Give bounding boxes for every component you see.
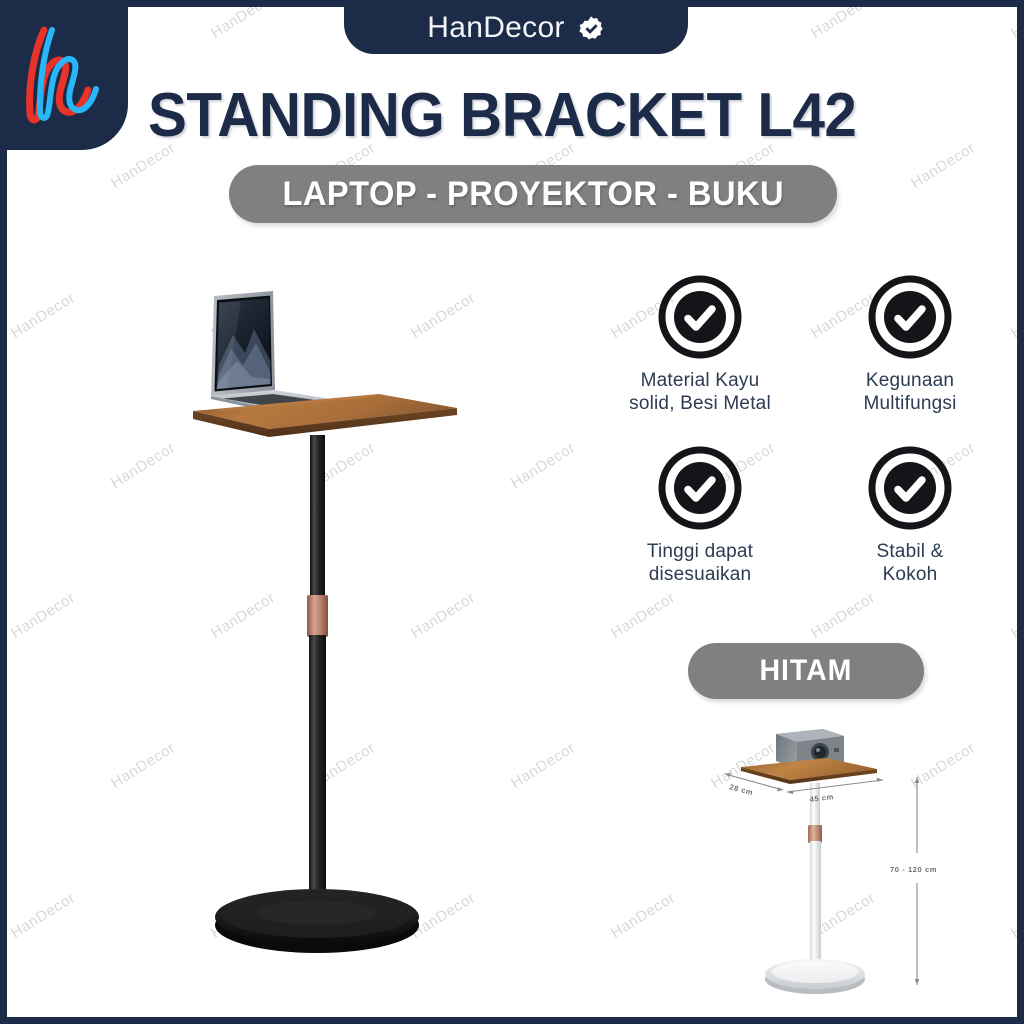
- feature-badge: Stabil & Kokoh: [809, 446, 1011, 595]
- feature-badge: Tinggi dapat disesuaikan: [599, 446, 801, 595]
- feature-label-line1: Kegunaan: [863, 369, 956, 392]
- depth-label: 28 cm: [728, 782, 754, 797]
- subtitle-pill: LAPTOP - PROYEKTOR - BUKU: [229, 165, 837, 223]
- handecor-script-h-logo-icon: [14, 22, 114, 127]
- brand-name: HanDecor: [427, 11, 564, 45]
- watermark-text: HanDecor: [808, 589, 878, 642]
- feature-label: Material Kayu solid, Besi Metal: [629, 369, 771, 415]
- check-circle-icon: [868, 275, 952, 359]
- dimension-diagram: 28 cm 45 cm 70 - 120 cm: [707, 707, 957, 1017]
- watermark-text: HanDecor: [1008, 589, 1017, 642]
- watermark-text: HanDecor: [908, 139, 978, 192]
- check-circle-icon: [868, 446, 952, 530]
- color-option-pill: HITAM: [688, 643, 924, 699]
- pole-lower: [309, 635, 326, 916]
- watermark-text: HanDecor: [1008, 889, 1017, 942]
- feature-label-line1: Material Kayu: [629, 369, 771, 392]
- watermark-text: HanDecor: [1008, 7, 1017, 42]
- feature-badge: Material Kayu solid, Besi Metal: [599, 275, 801, 424]
- feature-badge-grid: Material Kayu solid, Besi Metal Kegunaan…: [599, 275, 1011, 595]
- product-listing-image: HanDecorHanDecorHanDecorHanDecorHanDecor…: [0, 0, 1024, 1024]
- diagram-pole-lower: [810, 841, 821, 971]
- circular-base: [215, 889, 419, 953]
- page-title: STANDING BRACKET L42: [148, 85, 872, 147]
- feature-label: Tinggi dapat disesuaikan: [647, 540, 753, 586]
- watermark-text: HanDecor: [8, 289, 78, 342]
- feature-label-line1: Tinggi dapat: [647, 540, 753, 563]
- feature-label-line2: Multifungsi: [863, 392, 956, 415]
- watermark-text: HanDecor: [8, 889, 78, 942]
- diagram-base: [765, 959, 865, 994]
- feature-label-line2: Kokoh: [876, 563, 943, 586]
- pole-upper: [310, 435, 325, 598]
- diagram-tabletop: [741, 758, 877, 784]
- check-circle-icon: [658, 446, 742, 530]
- watermark-text: HanDecor: [608, 589, 678, 642]
- feature-label-line1: Stabil &: [876, 540, 943, 563]
- feature-badge: Kegunaan Multifungsi: [809, 275, 1011, 424]
- width-label: 45 cm: [809, 792, 834, 804]
- height-dimension: 70 - 120 cm: [890, 777, 937, 985]
- brand-logo-block: [0, 0, 128, 150]
- diagram-collar: [808, 825, 822, 843]
- check-circle-icon: [658, 275, 742, 359]
- diagram-pole-upper: [810, 783, 820, 827]
- height-adjust-collar[interactable]: [307, 595, 328, 637]
- feature-label-line2: disesuaikan: [647, 563, 753, 586]
- watermark-text: HanDecor: [8, 589, 78, 642]
- watermark-text: HanDecor: [808, 7, 878, 42]
- watermark-text: HanDecor: [208, 7, 278, 42]
- watermark-text: HanDecor: [608, 889, 678, 942]
- height-label: 70 - 120 cm: [890, 865, 937, 874]
- color-option-name: HITAM: [760, 654, 853, 688]
- brand-pill: HanDecor: [344, 0, 688, 54]
- feature-label: Stabil & Kokoh: [876, 540, 943, 586]
- verified-check-badge-icon: [577, 15, 605, 43]
- subtitle-text: LAPTOP - PROYEKTOR - BUKU: [282, 175, 784, 214]
- feature-label-line2: solid, Besi Metal: [629, 392, 771, 415]
- product-photo: [157, 277, 537, 967]
- laptop-screen: [211, 291, 275, 396]
- feature-label: Kegunaan Multifungsi: [863, 369, 956, 415]
